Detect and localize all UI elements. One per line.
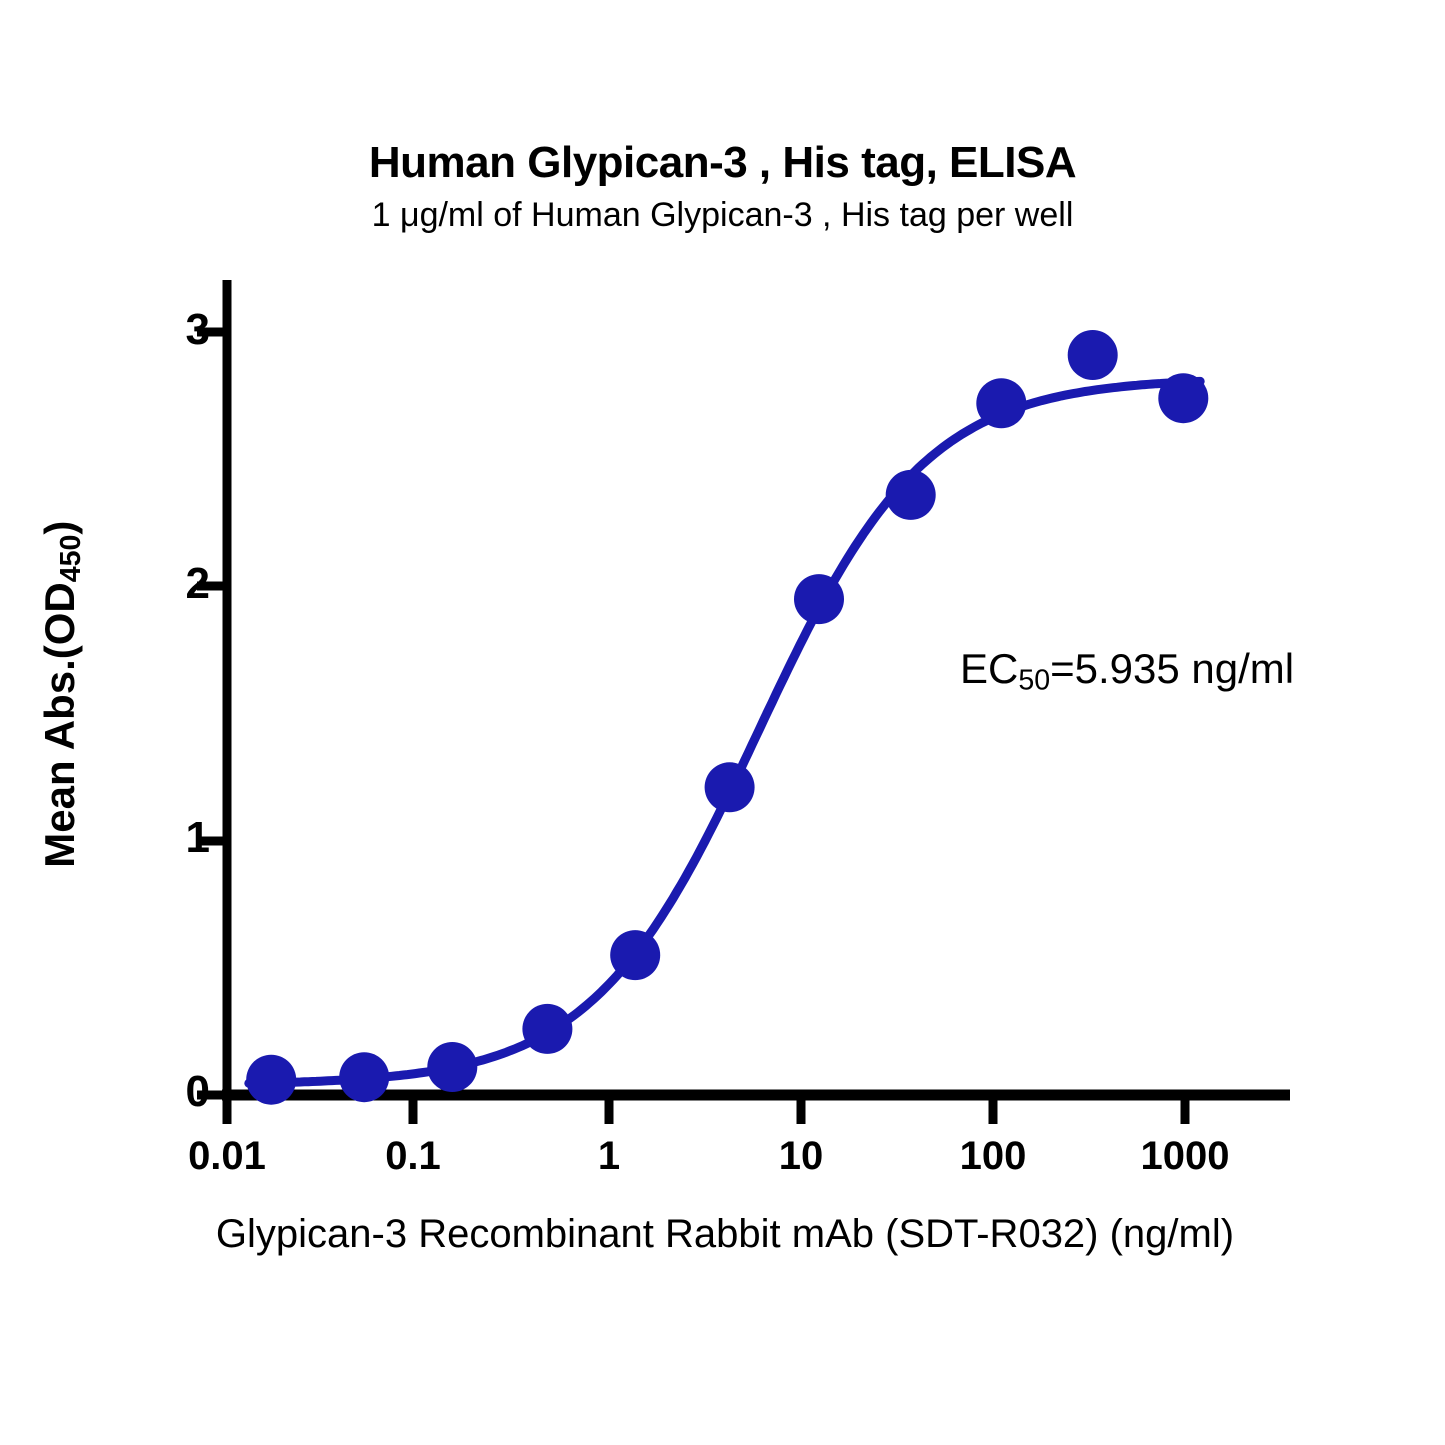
data-point [705, 762, 755, 812]
data-point [610, 930, 660, 980]
data-point [427, 1042, 477, 1092]
axes [197, 280, 1290, 1124]
elisa-chart-figure: Human Glypican-3 , His tag, ELISA 1 μg/m… [0, 0, 1445, 1445]
data-point [976, 378, 1026, 428]
data-point [794, 574, 844, 624]
data-point [886, 470, 936, 520]
plot-area [0, 0, 1445, 1445]
data-point [1068, 330, 1118, 380]
data-point [246, 1055, 296, 1105]
data-point [522, 1004, 572, 1054]
data-point-group [246, 330, 1208, 1105]
data-point [339, 1052, 389, 1102]
data-point [1158, 373, 1208, 423]
fit-curve [249, 381, 1200, 1083]
